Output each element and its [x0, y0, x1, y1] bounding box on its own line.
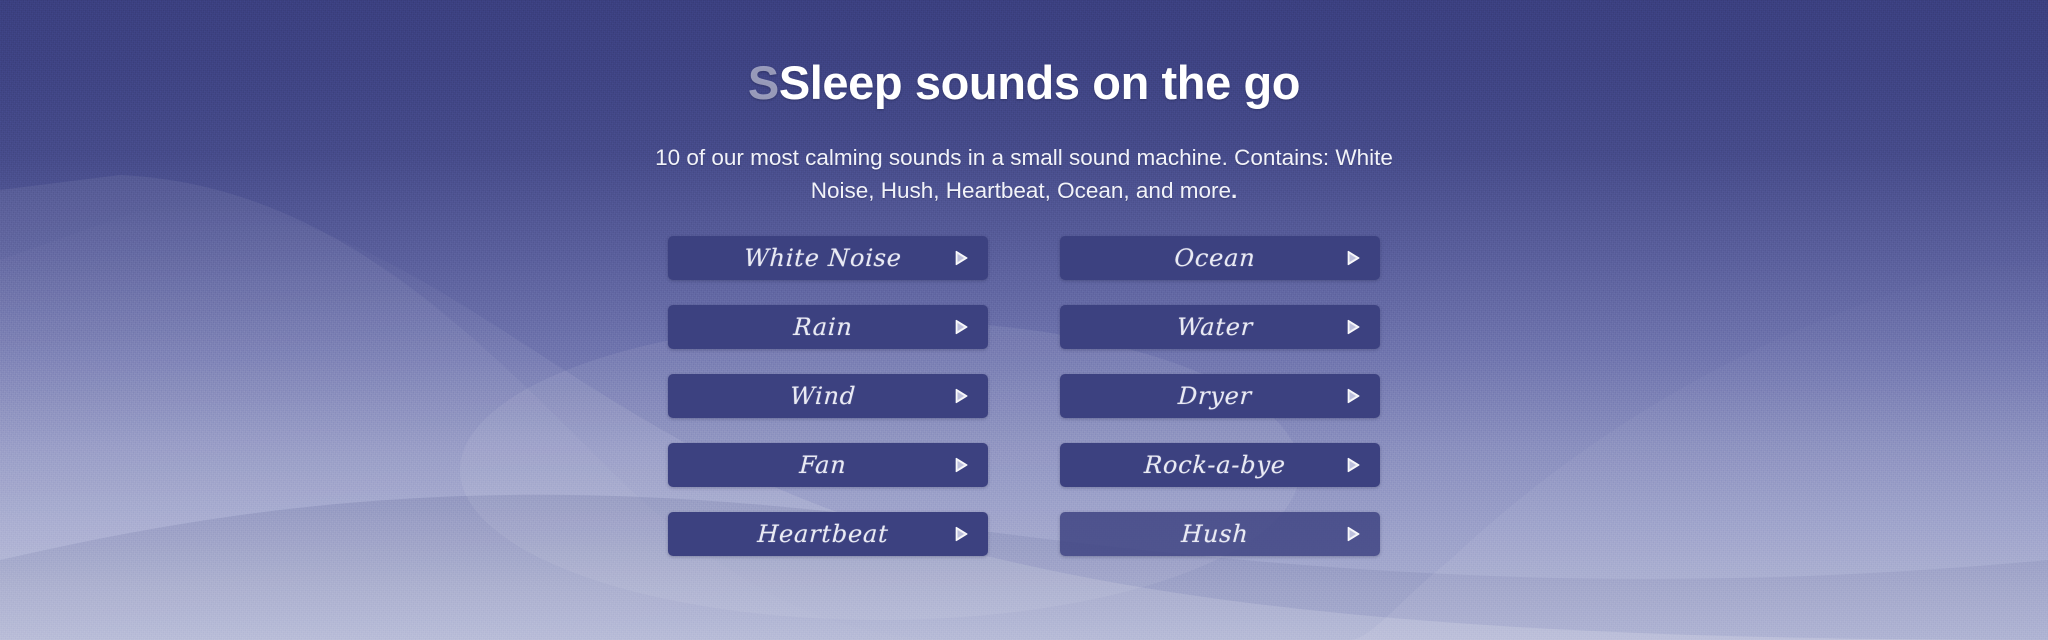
- play-icon: [1344, 525, 1362, 543]
- play-icon: [1344, 456, 1362, 474]
- subtitle-line-2: Hush, Heartbeat, Ocean, and more: [881, 178, 1231, 203]
- page-title: SSleep sounds on the go: [0, 55, 2048, 111]
- sound-button-label: Wind: [693, 383, 952, 409]
- subtitle-period: .: [1231, 178, 1237, 203]
- title-text: Sleep sounds on the go: [779, 56, 1300, 109]
- play-icon: [952, 249, 970, 267]
- sound-button-fan[interactable]: Fan: [668, 443, 988, 487]
- banner-content: SSleep sounds on the go 10 of our most c…: [0, 0, 2048, 640]
- sound-button-label: Fan: [693, 452, 952, 478]
- sound-button-ocean[interactable]: Ocean: [1060, 236, 1380, 280]
- sound-button-grid: White NoiseRainWindFanHeartbeat OceanWat…: [668, 236, 1380, 556]
- sound-button-dryer[interactable]: Dryer: [1060, 374, 1380, 418]
- sound-button-label: Rock-a-bye: [1085, 452, 1344, 478]
- sound-button-heartbeat[interactable]: Heartbeat: [668, 512, 988, 556]
- sound-button-rain[interactable]: Rain: [668, 305, 988, 349]
- play-icon: [952, 387, 970, 405]
- sound-button-white-noise[interactable]: White Noise: [668, 236, 988, 280]
- sound-column-right: OceanWaterDryerRock-a-byeHush: [1060, 236, 1380, 556]
- sound-button-label: Water: [1085, 314, 1344, 340]
- play-icon: [952, 456, 970, 474]
- play-icon: [952, 525, 970, 543]
- play-icon: [952, 318, 970, 336]
- sound-button-label: White Noise: [693, 245, 952, 271]
- page-subtitle: 10 of our most calming sounds in a small…: [624, 141, 1424, 207]
- play-icon: [1344, 249, 1362, 267]
- sound-button-label: Dryer: [1085, 383, 1344, 409]
- sound-button-label: Hush: [1085, 521, 1344, 547]
- sound-button-rock-a-bye[interactable]: Rock-a-bye: [1060, 443, 1380, 487]
- play-icon: [1344, 318, 1362, 336]
- sound-button-label: Rain: [693, 314, 952, 340]
- play-icon: [1344, 387, 1362, 405]
- title-ghost-initial: S: [748, 56, 779, 109]
- sound-button-label: Heartbeat: [693, 521, 952, 547]
- sound-button-wind[interactable]: Wind: [668, 374, 988, 418]
- promo-banner: SSleep sounds on the go 10 of our most c…: [0, 0, 2048, 640]
- sound-column-left: White NoiseRainWindFanHeartbeat: [668, 236, 988, 556]
- sound-button-label: Ocean: [1085, 245, 1344, 271]
- sound-button-hush[interactable]: Hush: [1060, 512, 1380, 556]
- sound-button-water[interactable]: Water: [1060, 305, 1380, 349]
